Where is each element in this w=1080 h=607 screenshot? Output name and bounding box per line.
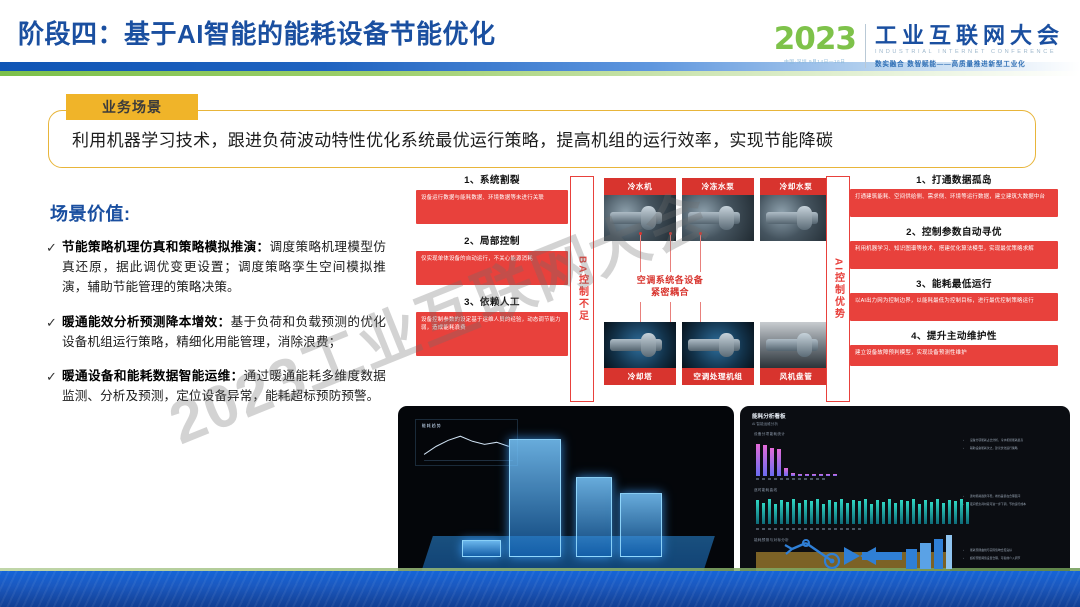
equipment-card: 冷却水泵 <box>760 178 832 241</box>
bullet-bold: 节能策略机理仿真和策略模拟推演： <box>62 240 270 254</box>
twin-building <box>462 540 501 557</box>
equipment-photo <box>682 195 754 241</box>
ba-side-label: BA控制不足 <box>570 176 594 402</box>
equipment-label: 风机盘管 <box>760 368 832 385</box>
ba-item-detail: 设备控制参数的设定基于运维人员的经验，动态调节能力弱，造成能耗浪费 <box>416 312 568 356</box>
comparison-diagram: 1、系统割裂 设备运行数据与能耗数据、环境数据等未进行关联 2、局部控制 仅实现… <box>398 172 1070 404</box>
dashboard-notes: 设备分项能耗占比分析，冷水机组能耗最高 辅助设备能耗次之，建议优化运行策略 <box>966 438 1065 454</box>
ba-item-heading: 1、系统割裂 <box>416 172 568 186</box>
digital-twin-screenshot[interactable]: 能耗趋势 实时能耗 · 冷站效率 · 负荷预测 51 51 WORLD <box>398 406 734 592</box>
scenario-description: 利用机器学习技术，跟进负荷波动特性优化系统最优运行策略，提高机组的运行效率，实现… <box>72 126 1012 151</box>
equipment-label: 冷冻水泵 <box>682 178 754 195</box>
connector-line <box>640 234 641 272</box>
connector-line <box>670 234 671 272</box>
ba-item-detail: 仅实现单体设备的自动运行，不关心能源消耗 <box>416 251 568 285</box>
equipment-label: 空调处理机组 <box>682 368 754 385</box>
equipment-label: 冷却水泵 <box>760 178 832 195</box>
list-item: ✓ 暖通设备和能耗数据智能运维：通过暖通能耗多维度数据监测、分析及预测，定位设备… <box>46 367 386 407</box>
bullet-text: 节能策略机理仿真和策略模拟推演：调度策略机理模型仿真还原，据此调优变更设置；调度… <box>62 238 386 298</box>
bullet-bold: 暖通设备和能耗数据智能运维： <box>62 369 244 383</box>
bullet-text: 暖通能效分析预测降本增效：基于负荷和负载预测的优化设备机组运行策略，精细化用能管… <box>62 313 386 353</box>
list-item: ✓ 节能策略机理仿真和策略模拟推演：调度策略机理模型仿真还原，据此调优变更设置；… <box>46 238 386 298</box>
ai-item-detail: 建立设备故障预判模型，实现设备预测性维护 <box>850 345 1058 366</box>
page-title: 阶段四：基于AI智能的能耗设备节能优化 <box>18 14 496 51</box>
value-bullet-list: ✓ 节能策略机理仿真和策略模拟推演：调度策略机理模型仿真还原，据此调优变更设置；… <box>46 238 386 422</box>
coupling-caption-line2: 紧密耦合 <box>651 287 689 297</box>
conference-logo: 2023 中国·深圳 9月14日—16日 工业互联网大会 INDUSTRIAL … <box>774 24 1064 78</box>
ai-side-label: AI控制优势 <box>826 176 850 402</box>
note-line: 夜间低负荷时段可进一步下调，节约运行成本 <box>966 502 1065 506</box>
dashboard-panel-title: 设备分项能耗统计 <box>754 432 785 437</box>
logo-year: 2023 <box>774 24 856 55</box>
logo-divider <box>865 24 866 68</box>
ba-side-label-text: BA控制不足 <box>577 256 588 322</box>
equipment-photo <box>760 195 832 241</box>
dashboard-notes: 能耗预测曲线与实际值吻合度良好 超标预警阈值设置合理，可提前介入调节 <box>966 548 1065 564</box>
connector-line <box>670 302 671 322</box>
twin-building <box>576 477 612 557</box>
logo-conference-name-en: INDUSTRIAL INTERNET CONFERENCE <box>875 49 1064 55</box>
bullet-text: 暖通设备和能耗数据智能运维：通过暖通能耗多维度数据监测、分析及预测，定位设备异常… <box>62 367 386 407</box>
equipment-card: 风机盘管 <box>760 322 832 385</box>
ai-side-label-text: AI控制优势 <box>833 258 844 320</box>
dashboard-subtitle: AI 智能运维分析 <box>752 422 786 427</box>
bullet-bold: 暖通能效分析预测降本增效： <box>62 315 231 329</box>
dashboard-title: 能耗分析看板 <box>752 412 786 420</box>
ba-item-heading: 2、局部控制 <box>416 233 568 247</box>
dashboard-notes: 逐时能耗趋势平稳，峰谷差值在合理区间 夜间低负荷时段可进一步下调，节约运行成本 <box>966 494 1065 510</box>
bar-chart <box>756 498 969 524</box>
connector-line <box>700 234 701 272</box>
note-line: 逐时能耗趋势平稳，峰谷差值在合理区间 <box>966 494 1065 498</box>
logo-tagline: 数实融合 数智赋能——高质量推进新型工业化 <box>875 58 1064 68</box>
connector-dot <box>699 232 702 235</box>
equipment-card: 空调处理机组 <box>682 322 754 385</box>
coupling-caption-line1: 空调系统各设备 <box>637 275 704 285</box>
connector-dot <box>639 232 642 235</box>
connector-line <box>700 302 701 322</box>
equipment-photo <box>760 322 832 368</box>
value-section-title: 场景价值: <box>50 200 131 226</box>
note-line: 辅助设备能耗次之，建议优化运行策略 <box>966 446 1065 450</box>
bar-chart <box>756 442 837 476</box>
check-icon: ✓ <box>46 367 62 407</box>
logo-year-subtitle: 中国·深圳 9月14日—16日 <box>774 59 856 65</box>
equipment-label: 冷却塔 <box>604 368 676 385</box>
footer-decoration <box>780 535 970 569</box>
equipment-card: 冷冻水泵 <box>682 178 754 241</box>
note-line: 超标预警阈值设置合理，可提前介入调节 <box>966 556 1065 560</box>
ai-item-detail: 以AI出力网为控制边界，以能耗最低为控制目标，进行最优控制策略运行 <box>850 293 1058 321</box>
factory-icon <box>904 535 962 569</box>
robot-arm-icon <box>780 535 850 569</box>
ba-problem-column: 1、系统割裂 设备运行数据与能耗数据、环境数据等未进行关联 2、局部控制 仅实现… <box>416 172 568 356</box>
ai-item-heading: 2、控制参数自动寻优 <box>850 224 1058 238</box>
ai-advantage-column: 1、打通数据孤岛 打通建筑能耗、空间供给侧、需求侧、环境等运行数据，建立建筑大数… <box>850 172 1058 366</box>
logo-conference-name: 工业互联网大会 <box>875 24 1064 47</box>
valve-pipe-icon <box>844 545 904 567</box>
ai-item-heading: 3、能耗最低运行 <box>850 276 1058 290</box>
scenario-tab-label: 业务场景 <box>66 94 198 120</box>
connector-line <box>640 302 641 322</box>
equipment-photo <box>604 322 676 368</box>
equipment-card: 冷却塔 <box>604 322 676 385</box>
twin-mini-chart: 能耗趋势 <box>415 419 518 466</box>
coupling-caption: 空调系统各设备 紧密耦合 <box>610 274 730 298</box>
ai-item-detail: 打通建筑能耗、空间供给侧、需求侧、环境等运行数据，建立建筑大数据中台 <box>850 189 1058 217</box>
ai-item-heading: 1、打通数据孤岛 <box>850 172 1058 186</box>
ba-item-heading: 3、依赖人工 <box>416 294 568 308</box>
list-item: ✓ 暖通能效分析预测降本增效：基于负荷和负载预测的优化设备机组运行策略，精细化用… <box>46 313 386 353</box>
dashboard-header: 能耗分析看板 AI 智能运维分析 <box>752 412 786 427</box>
ba-item-detail: 设备运行数据与能耗数据、环境数据等未进行关联 <box>416 190 568 224</box>
twin-building <box>620 493 662 556</box>
dashboard-panel-title: 逐时能耗曲线 <box>754 488 777 493</box>
ai-item-detail: 利用机器学习、知识图谱等技术，搭建优化算法模型，实现最优策略求解 <box>850 241 1058 269</box>
twin-building <box>509 439 561 556</box>
note-line: 设备分项能耗占比分析，冷水机组能耗最高 <box>966 438 1065 442</box>
equipment-photo <box>682 322 754 368</box>
footer-band <box>0 571 1080 607</box>
ai-item-heading: 4、提升主动维护性 <box>850 328 1058 342</box>
axis-tick-row <box>756 478 825 480</box>
check-icon: ✓ <box>46 313 62 353</box>
note-line: 能耗预测曲线与实际值吻合度良好 <box>966 548 1065 552</box>
twin-mini-chart-title: 能耗趋势 <box>422 423 442 429</box>
check-icon: ✓ <box>46 238 62 298</box>
connector-dot <box>669 232 672 235</box>
slide-root: 阶段四：基于AI智能的能耗设备节能优化 2023 中国·深圳 9月14日—16日… <box>0 0 1080 607</box>
axis-tick-row <box>756 528 861 530</box>
equipment-label: 冷水机 <box>604 178 676 195</box>
